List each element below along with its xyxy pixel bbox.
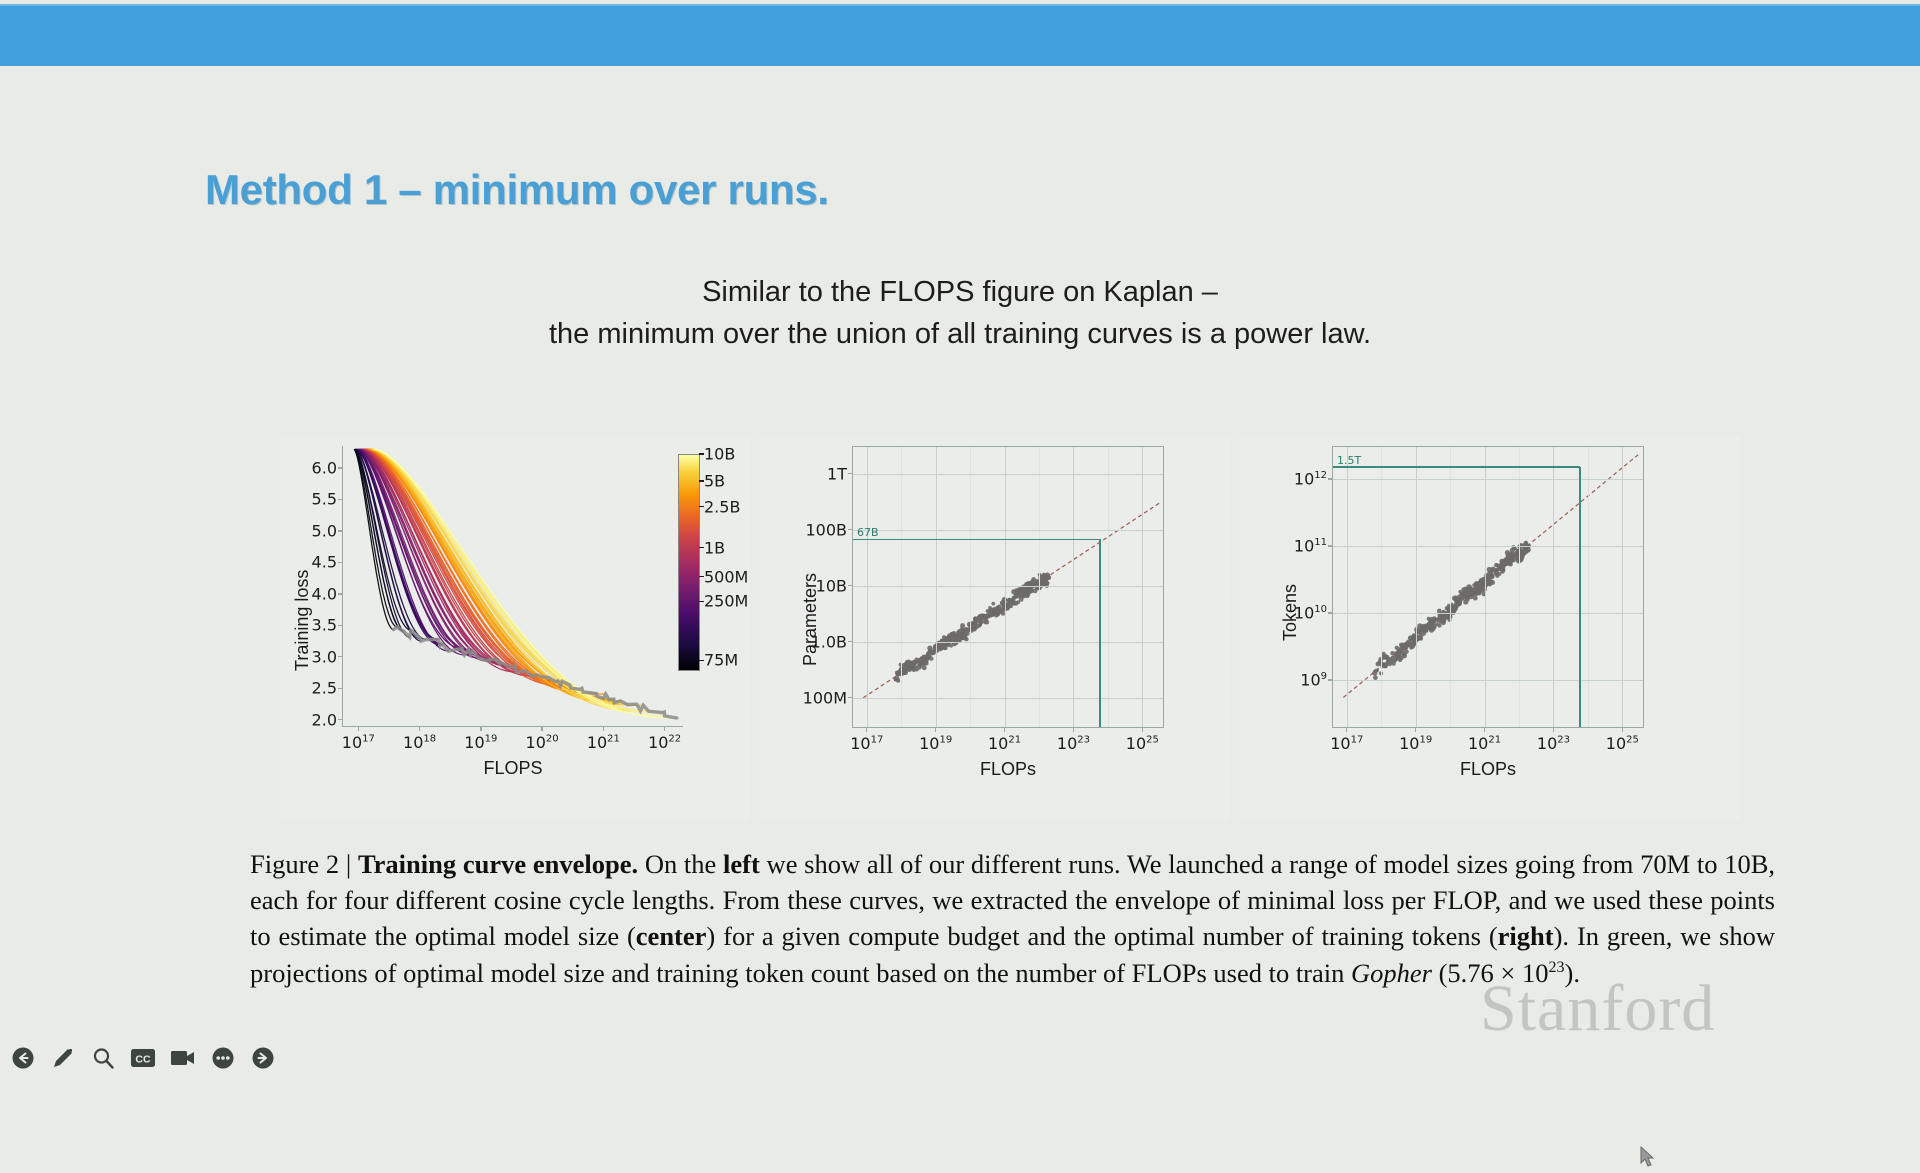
left-x-tick: 1022 xyxy=(648,733,681,752)
left-y-tick: 6.0 xyxy=(312,459,337,478)
ellipsis-icon[interactable] xyxy=(210,1045,236,1071)
training-loss-curves xyxy=(343,446,683,726)
right-projection-label: 1.5T xyxy=(1337,454,1361,467)
left-x-tick: 1018 xyxy=(403,733,436,752)
left-x-tick: 1017 xyxy=(342,733,375,752)
parameters-scatter xyxy=(853,447,1163,727)
center-y-tick: 100B xyxy=(805,520,847,539)
colorbar-tick: 75M xyxy=(704,651,738,670)
pencil-icon[interactable] xyxy=(50,1045,76,1071)
page-title: Method 1 – minimum over runs. xyxy=(205,166,829,214)
right-x-tick: 1017 xyxy=(1330,734,1363,753)
colorbar-tick: 5B xyxy=(704,471,725,490)
caption-italic-gopher: Gopher xyxy=(1351,958,1432,988)
colorbar-tick: 250M xyxy=(704,592,748,611)
figure-caption: Figure 2 | Training curve envelope. On t… xyxy=(250,846,1775,991)
caption-text-6: ). xyxy=(1565,958,1580,988)
slide-subtitle: Similar to the FLOPS figure on Kaplan – … xyxy=(0,271,1920,355)
right-x-tick: 1021 xyxy=(1468,734,1501,753)
chart-left-training-loss: 6.05.55.04.54.03.53.02.52.01017101810191… xyxy=(280,436,750,821)
left-x-tick: 1020 xyxy=(526,733,559,752)
colorbar-tick: 1B xyxy=(704,538,725,557)
right-projection-hline xyxy=(1333,466,1580,468)
forward-arrow-icon[interactable] xyxy=(250,1045,276,1071)
left-y-tick: 3.5 xyxy=(312,616,337,635)
colorbar-tick: 10B xyxy=(704,445,735,464)
caption-exponent: 23 xyxy=(1549,959,1565,976)
center-x-axis-label: FLOPs xyxy=(980,759,1036,780)
center-projection-label: 67B xyxy=(857,526,879,539)
right-y-tick: 1012 xyxy=(1294,469,1327,488)
mouse-cursor-artifact xyxy=(1640,1146,1656,1168)
center-axes: 1T100B10B1.0B100M10171019102110231025FLO… xyxy=(852,446,1164,728)
caption-text-5: (5.76 × 10 xyxy=(1432,958,1549,988)
center-x-tick: 1023 xyxy=(1057,734,1090,753)
center-x-tick: 1021 xyxy=(988,734,1021,753)
center-y-axis-label: Parameters xyxy=(800,573,821,666)
center-x-tick: 1019 xyxy=(919,734,952,753)
center-y-tick: 100M xyxy=(803,688,847,707)
center-y-tick: 1T xyxy=(827,464,847,483)
subtitle-line-1: Similar to the FLOPS figure on Kaplan – xyxy=(702,276,1218,308)
right-y-axis-label: Tokens xyxy=(1280,584,1301,641)
search-icon[interactable] xyxy=(90,1045,116,1071)
slide-canvas: Method 1 – minimum over runs. Similar to… xyxy=(0,66,1920,1056)
left-axes: 6.05.55.04.54.03.53.02.52.01017101810191… xyxy=(342,446,683,727)
right-x-tick: 1025 xyxy=(1606,734,1639,753)
center-projection-hline xyxy=(853,539,1100,541)
left-y-tick: 5.5 xyxy=(312,490,337,509)
caption-text-3: ) for a given compute budget and the opt… xyxy=(706,921,1497,951)
left-y-tick: 4.5 xyxy=(312,553,337,572)
figure-2-training-curve-envelope: 6.05.55.04.54.03.53.02.52.01017101810191… xyxy=(280,436,1740,821)
back-arrow-icon[interactable] xyxy=(10,1045,36,1071)
left-y-tick: 4.0 xyxy=(312,584,337,603)
left-y-tick: 2.0 xyxy=(312,710,337,729)
colorbar-gradient xyxy=(678,454,700,671)
right-y-tick: 109 xyxy=(1300,671,1327,690)
colorbar-tick: 500M xyxy=(704,567,748,586)
right-x-axis-label: FLOPs xyxy=(1460,759,1516,780)
center-x-tick: 1025 xyxy=(1126,734,1159,753)
model-size-colorbar: 10B5B2.5B1B500M250M75M xyxy=(678,454,700,671)
left-y-tick: 2.5 xyxy=(312,679,337,698)
right-projection-vline xyxy=(1579,467,1581,727)
left-y-axis-label: Training loss xyxy=(292,570,313,671)
center-x-tick: 1017 xyxy=(850,734,883,753)
player-top-bar xyxy=(0,4,1920,68)
caption-bold-center: center xyxy=(636,921,707,951)
caption-text-1: On the xyxy=(638,849,723,879)
left-y-tick: 5.0 xyxy=(312,521,337,540)
caption-bold-right: right xyxy=(1498,921,1554,951)
video-camera-icon[interactable] xyxy=(170,1045,196,1071)
caption-bold-left: left xyxy=(723,849,760,879)
left-y-tick: 3.0 xyxy=(312,647,337,666)
cc-icon[interactable]: CC xyxy=(130,1045,156,1071)
left-x-tick: 1021 xyxy=(587,733,620,752)
caption-bold-title: Training curve envelope. xyxy=(358,849,638,879)
center-projection-vline xyxy=(1099,539,1101,727)
player-bottom-toolbar: CC xyxy=(0,1036,1920,1080)
right-y-tick: 1011 xyxy=(1294,537,1327,556)
right-x-tick: 1019 xyxy=(1399,734,1432,753)
right-axes: 10121011101010910171019102110231025FLOPs… xyxy=(1332,446,1644,728)
tokens-scatter xyxy=(1333,447,1643,727)
left-x-tick: 1019 xyxy=(464,733,497,752)
chart-center-parameters: 1T100B10B1.0B100M10171019102110231025FLO… xyxy=(760,436,1230,821)
subtitle-line-2: the minimum over the union of all traini… xyxy=(0,313,1920,355)
colorbar-tick: 2.5B xyxy=(704,497,740,516)
right-x-tick: 1023 xyxy=(1537,734,1570,753)
caption-figure-label: Figure 2 | xyxy=(250,849,358,879)
left-x-axis-label: FLOPS xyxy=(483,758,542,779)
svg-text:CC: CC xyxy=(135,1054,151,1066)
chart-right-tokens: 10121011101010910171019102110231025FLOPs… xyxy=(1240,436,1740,821)
